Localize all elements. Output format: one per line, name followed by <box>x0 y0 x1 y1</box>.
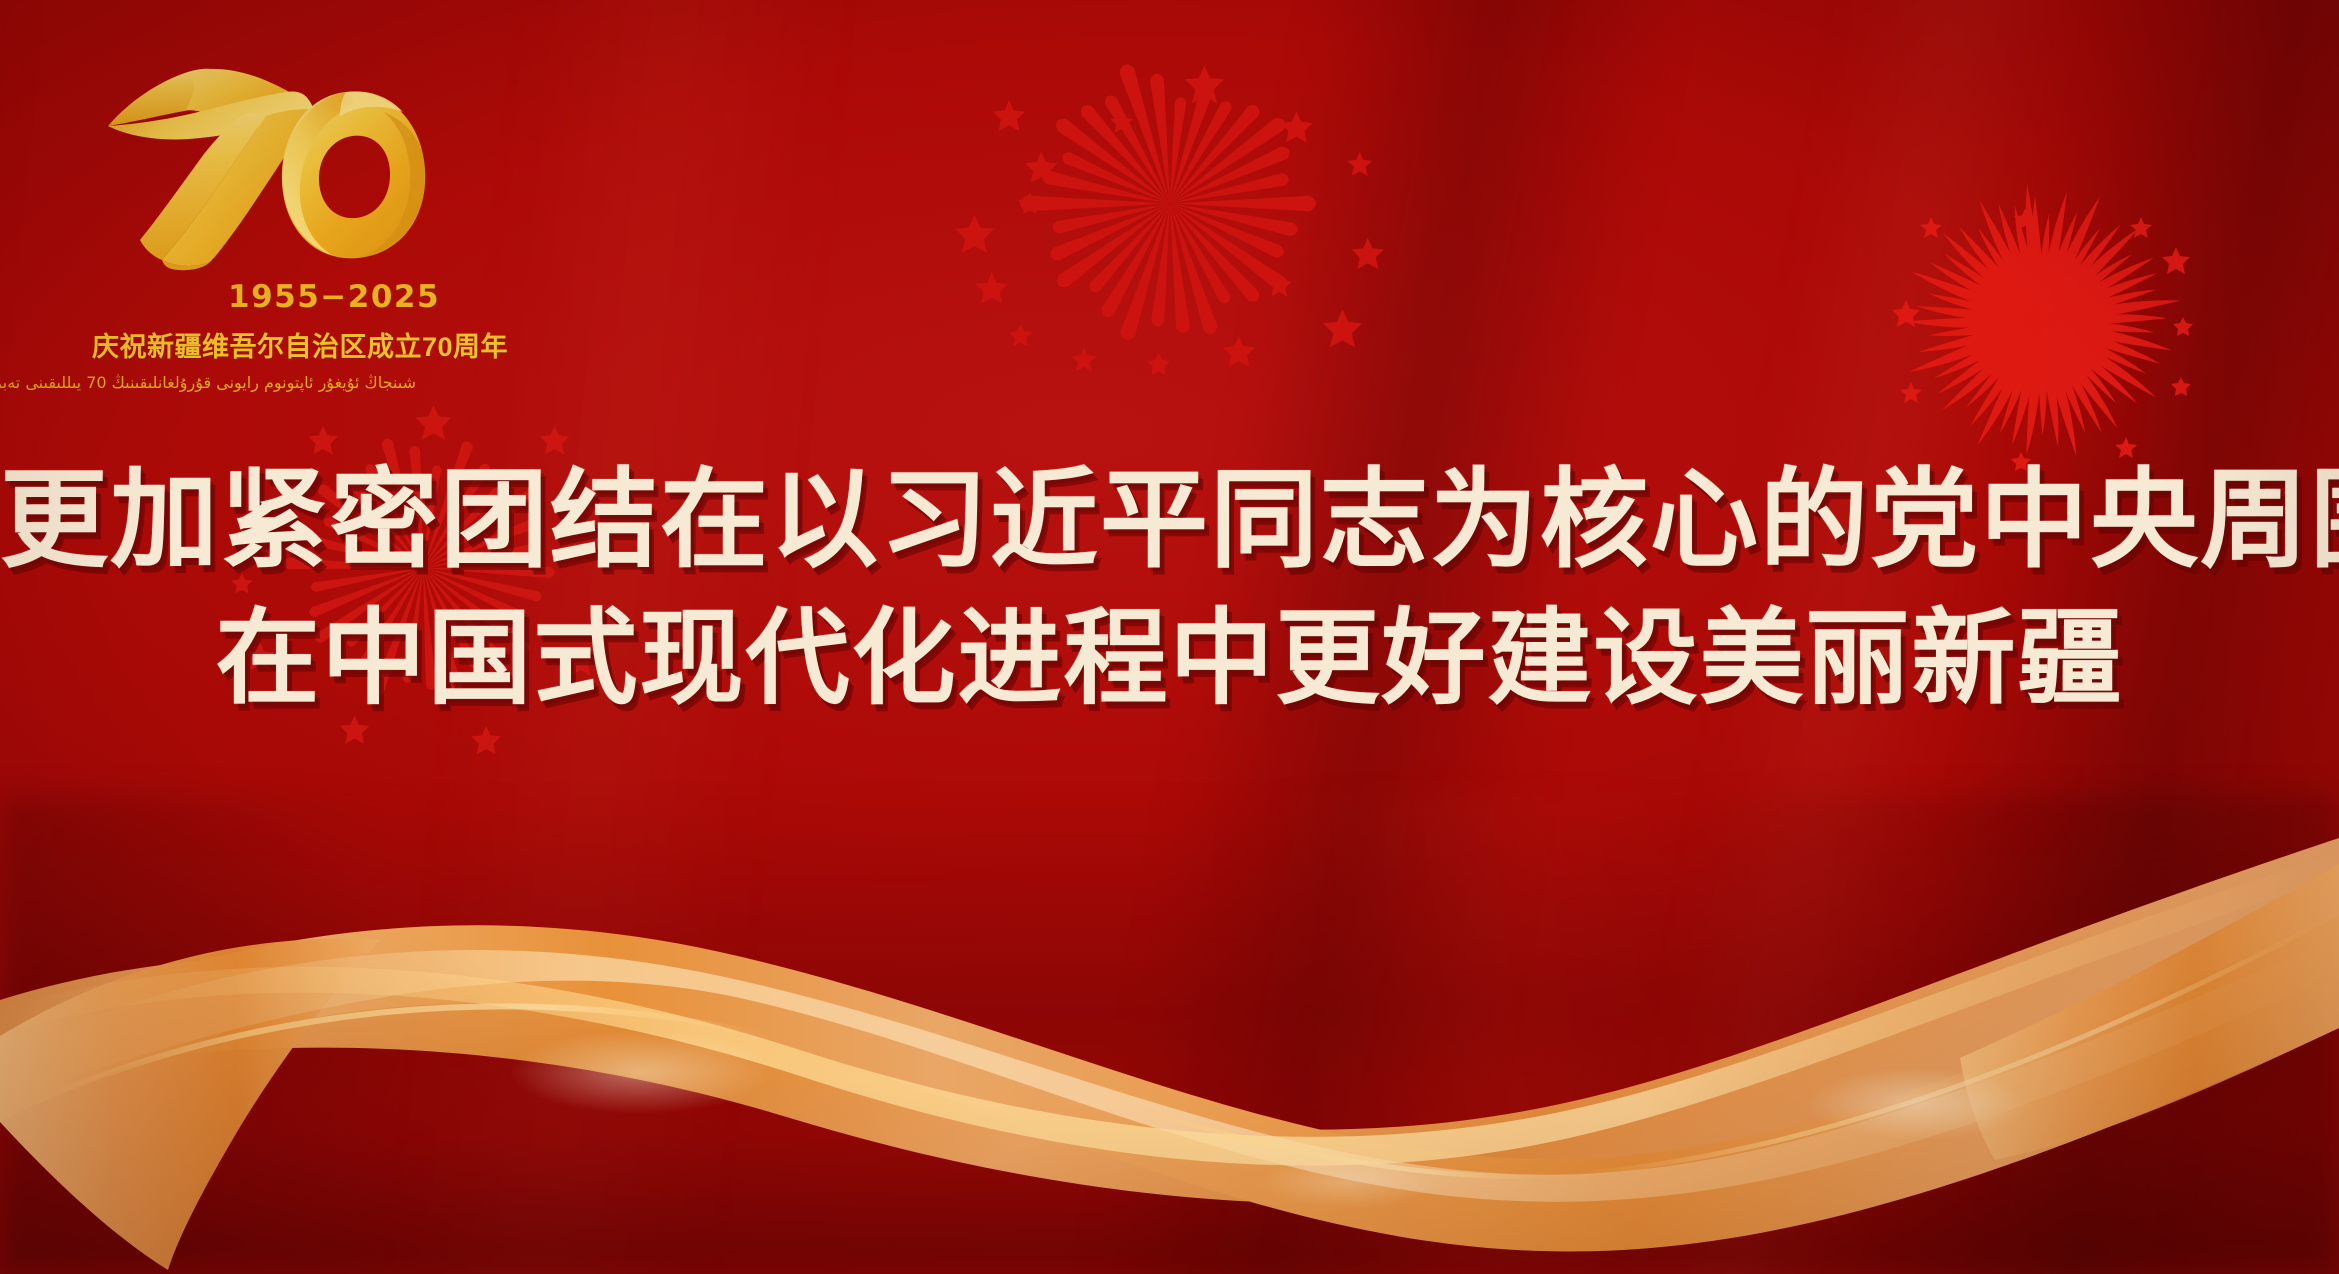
poster-canvas: 1955−2025 庆祝新疆维吾尔自治区成立70周年 شىنجاڭ ئۇيغۇر… <box>0 0 2339 1274</box>
emblem-years: 1955−2025 <box>228 279 468 315</box>
anniversary-emblem: 1955−2025 庆祝新疆维吾尔自治区成立70周年 شىنجاڭ ئۇيغۇر… <box>88 48 468 392</box>
headline-line-1: 更加紧密团结在以习近平同志为核心的党中央周围 <box>0 468 2339 576</box>
emblem-caption-ug: شىنجاڭ ئۇيغۇر ئاپتونوم رايونى قۇرۇلغانلى… <box>92 373 416 392</box>
bottom-shade <box>0 794 2339 1274</box>
emblem-caption-zh: 庆祝新疆维吾尔自治区成立70周年 <box>92 325 468 364</box>
headline-line-2: 在中国式现代化进程中更好建设美丽新疆 <box>0 608 2339 712</box>
headline-block: 更加紧密团结在以习近平同志为核心的党中央周围 在中国式现代化进程中更好建设美丽新… <box>0 468 2339 712</box>
ribbon-70-icon <box>100 48 430 273</box>
